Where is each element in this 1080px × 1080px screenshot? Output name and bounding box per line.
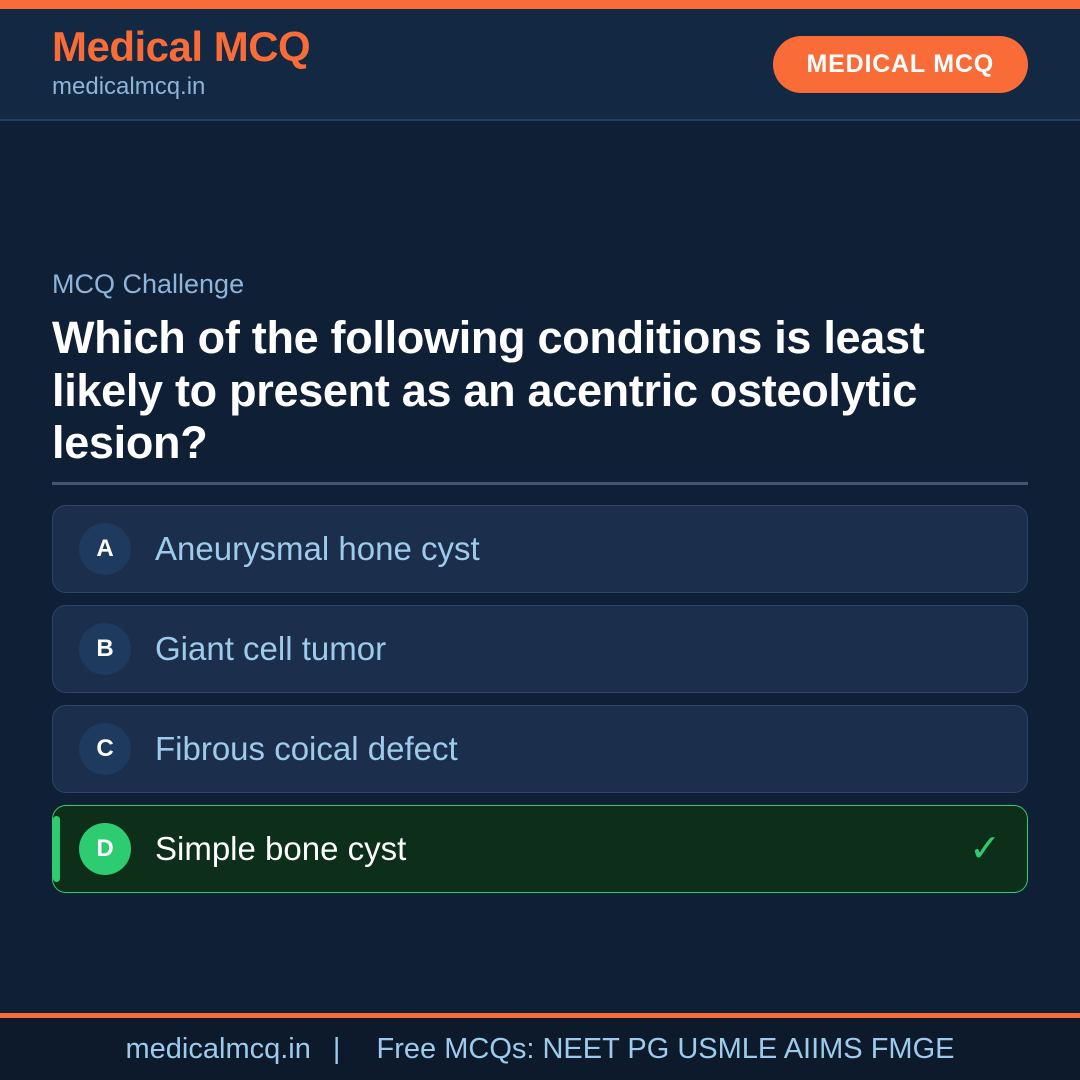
brand-block: Medical MCQ medicalmcq.in (52, 25, 310, 103)
footer-exams: Free MCQs: NEET PG USMLE AIIMS FMGE (363, 1033, 955, 1065)
page-header: Medical MCQ medicalmcq.in MEDICAL MCQ (0, 9, 1080, 121)
question-block: MCQ Challenge Which of the following con… (52, 268, 1028, 469)
brand-title: Medical MCQ (52, 25, 310, 69)
header-badge[interactable]: MEDICAL MCQ (773, 36, 1029, 93)
option-label: Giant cell tumor (155, 629, 1001, 669)
option-label: Fibrous coical defect (155, 729, 1001, 769)
option-row-d[interactable]: D Simple bone cyst ✓ (52, 805, 1028, 893)
page-footer: medicalmcq.in | Free MCQs: NEET PG USMLE… (0, 1018, 1080, 1080)
option-row-b[interactable]: B Giant cell tumor (52, 605, 1028, 693)
section-divider (52, 482, 1028, 485)
footer-site[interactable]: medicalmcq.in (126, 1033, 311, 1065)
question-text: Which of the following conditions is lea… (52, 312, 1028, 469)
option-letter-badge: A (79, 523, 131, 575)
option-row-c[interactable]: C Fibrous coical defect (52, 705, 1028, 793)
main-content: MCQ Challenge Which of the following con… (0, 123, 1080, 1012)
top-accent-bar (0, 0, 1080, 9)
eyebrow-label: MCQ Challenge (52, 268, 1028, 300)
footer-text: medicalmcq.in | Free MCQs: NEET PG USMLE… (126, 1033, 955, 1066)
option-letter-badge: D (79, 823, 131, 875)
brand-subtitle: medicalmcq.in (52, 71, 310, 103)
footer-separator: | (319, 1033, 355, 1065)
check-icon: ✓ (969, 830, 1001, 868)
option-label: Aneurysmal hone cyst (155, 529, 1001, 569)
option-row-a[interactable]: A Aneurysmal hone cyst (52, 505, 1028, 593)
option-label: Simple bone cyst (155, 829, 953, 869)
correct-accent-bar (53, 816, 60, 882)
option-letter-badge: B (79, 623, 131, 675)
option-letter-badge: C (79, 723, 131, 775)
options-list: A Aneurysmal hone cyst B Giant cell tumo… (52, 505, 1028, 905)
